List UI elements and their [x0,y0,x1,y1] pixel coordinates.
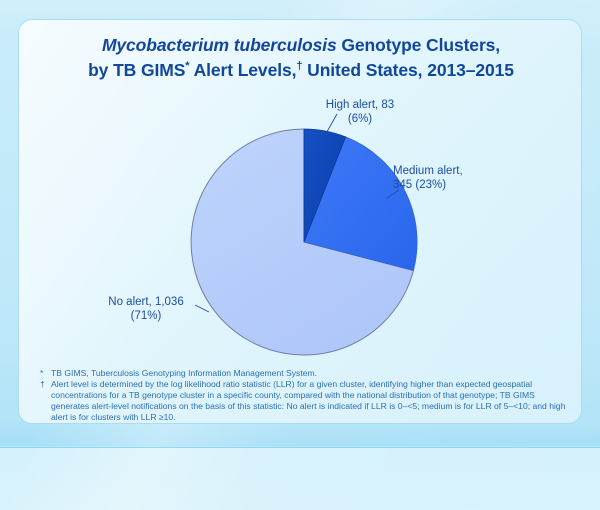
pie-label-high-alert: High alert, 83 (6%) [305,98,415,126]
background-divider [0,447,600,448]
pie-label-high-alert-line1: High alert, 83 [305,98,415,112]
footnote-dagger: † Alert level is determined by the log l… [40,379,568,423]
pie-label-no-alert: No alert, 1,036 (71%) [81,295,211,323]
footnotes: * TB GIMS, Tuberculosis Genotyping Infor… [40,368,568,423]
footnote-text-asterisk: TB GIMS, Tuberculosis Genotyping Informa… [51,368,568,379]
pie-label-medium-alert: Medium alert, 345 (23%) [393,164,513,192]
pie-label-no-alert-line1: No alert, 1,036 [81,295,211,309]
figure-page: Mycobacterium tuberculosis Genotype Clus… [0,0,600,510]
pie-label-medium-alert-line2: 345 (23%) [393,178,513,192]
footnote-marker-dagger: † [40,379,51,390]
pie-label-no-alert-line2: (71%) [81,309,211,323]
pie-chart: High alert, 83 (6%) Medium alert, 345 (2… [19,20,582,365]
pie-label-medium-alert-line1: Medium alert, [393,164,513,178]
figure-panel: Mycobacterium tuberculosis Genotype Clus… [18,19,582,424]
footnote-text-dagger: Alert level is determined by the log lik… [51,379,568,423]
pie-label-high-alert-line2: (6%) [305,112,415,126]
footnote-marker-asterisk: * [40,368,51,379]
footnote-asterisk: * TB GIMS, Tuberculosis Genotyping Infor… [40,368,568,379]
